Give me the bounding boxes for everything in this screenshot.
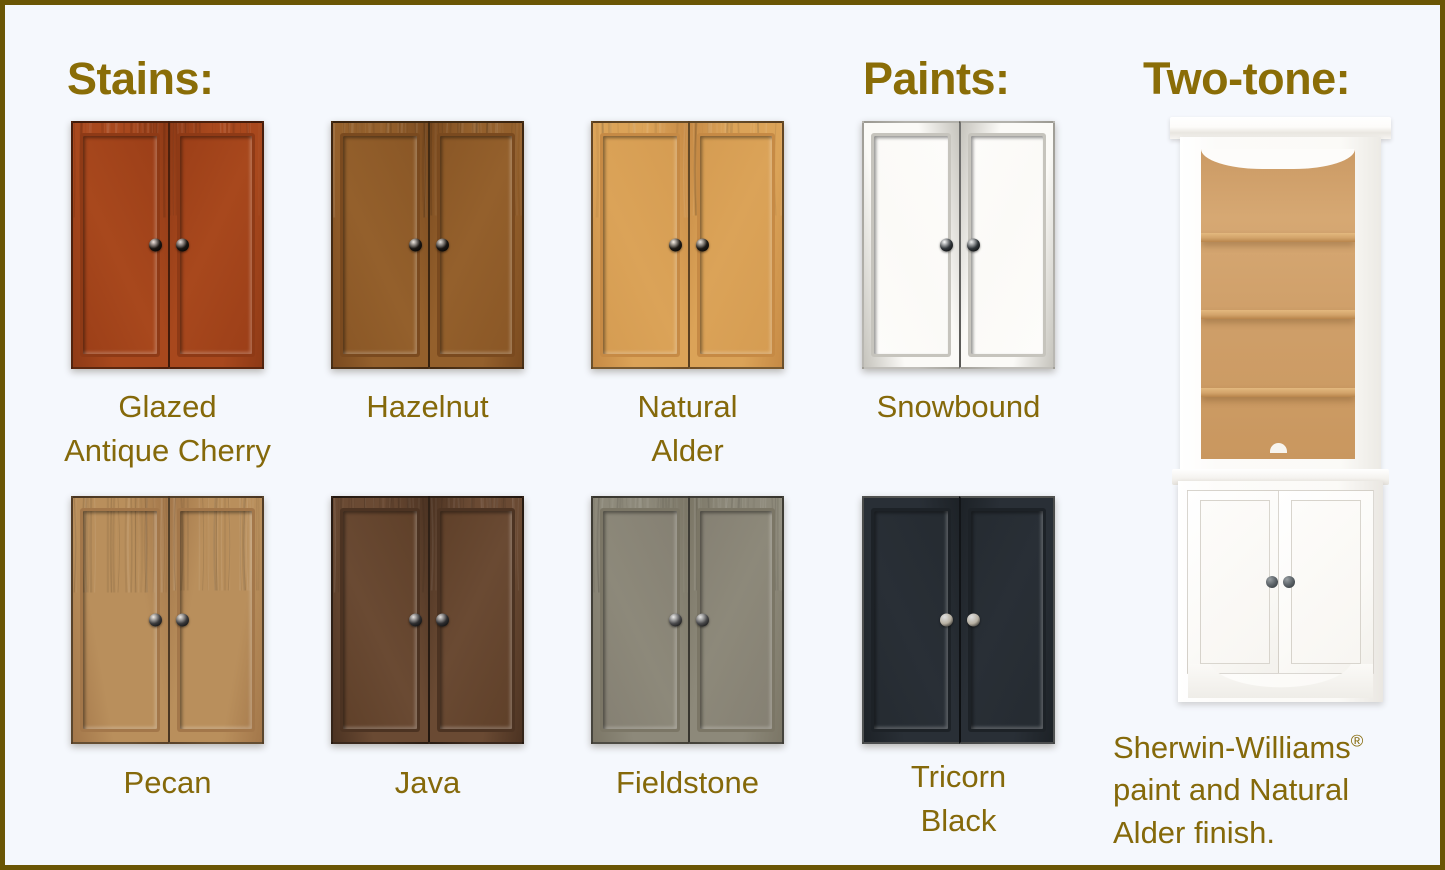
door-panel: [971, 136, 1043, 353]
door-panel: [1200, 500, 1270, 664]
heading-two-tone: Two-tone:: [1143, 53, 1350, 105]
cabinet-door[interactable]: [71, 496, 168, 744]
cabinet-door[interactable]: [591, 121, 688, 369]
door-knob-icon[interactable]: [409, 614, 422, 627]
door-knob-icon[interactable]: [669, 239, 682, 252]
bookcase-base-cabinet: [1178, 481, 1383, 702]
door-panel: [603, 136, 677, 353]
door-panel: [83, 511, 157, 728]
bookcase-interior: [1201, 149, 1355, 459]
door-panel: [180, 136, 252, 353]
heading-stains: Stains:: [67, 53, 214, 105]
base-cabinet-apron: [1188, 664, 1373, 698]
door-knob-icon[interactable]: [696, 614, 709, 627]
swatch-label-tricorn-black: Tricorn Black: [822, 755, 1095, 843]
swatch-label-hazelnut: Hazelnut: [291, 385, 564, 429]
cabinet-swatch-glazed-antique-cherry[interactable]: [71, 121, 264, 369]
cabinet-door[interactable]: [428, 496, 525, 744]
door-panel: [180, 511, 252, 728]
cabinet-door[interactable]: [591, 496, 688, 744]
door-knob-icon[interactable]: [409, 239, 422, 252]
swatch-label-snowbound: Snowbound: [822, 385, 1095, 429]
door-knob-icon[interactable]: [1283, 576, 1295, 588]
door-knob-icon[interactable]: [967, 614, 980, 627]
cabinet-swatch-tricorn-black[interactable]: [862, 496, 1055, 744]
two-tone-caption: Sherwin-Williams® paint and Natural Alde…: [1113, 727, 1428, 854]
door-knob-icon[interactable]: [669, 614, 682, 627]
door-knob-icon[interactable]: [1266, 576, 1278, 588]
bookcase-shelf: [1201, 388, 1355, 397]
base-cabinet-door-left[interactable]: [1187, 490, 1283, 674]
cabinet-swatch-pecan[interactable]: [71, 496, 264, 744]
bookcase-shelf: [1201, 310, 1355, 319]
door-panel: [874, 136, 948, 353]
cabinet-door[interactable]: [688, 121, 785, 369]
two-tone-bookcase: [1168, 117, 1393, 732]
cabinet-door[interactable]: [168, 121, 265, 369]
bookcase-arch-valance: [1201, 149, 1355, 169]
swatch-label-fieldstone: Fieldstone: [551, 761, 824, 805]
cabinet-door[interactable]: [428, 121, 525, 369]
cabinet-door[interactable]: [71, 121, 168, 369]
door-knob-icon[interactable]: [149, 614, 162, 627]
door-panel: [971, 511, 1043, 728]
door-panel: [343, 511, 417, 728]
cabinet-swatch-natural-alder[interactable]: [591, 121, 784, 369]
bookcase-shelf: [1201, 233, 1355, 242]
cabinet-swatch-hazelnut[interactable]: [331, 121, 524, 369]
cabinet-door[interactable]: [862, 121, 959, 369]
registered-trademark-icon: ®: [1351, 732, 1364, 751]
bookcase-puck-light: [1270, 443, 1287, 453]
cabinet-door[interactable]: [168, 496, 265, 744]
swatch-label-java: Java: [291, 761, 564, 805]
door-knob-icon[interactable]: [696, 239, 709, 252]
door-panel: [83, 136, 157, 353]
swatch-label-glazed-antique-cherry: Glazed Antique Cherry: [31, 385, 304, 473]
cabinet-swatch-java[interactable]: [331, 496, 524, 744]
cabinet-door[interactable]: [331, 121, 428, 369]
swatch-label-pecan: Pecan: [31, 761, 304, 805]
cabinet-door[interactable]: [959, 496, 1056, 744]
door-panel: [874, 511, 948, 728]
bookcase-hutch: [1180, 137, 1381, 475]
finish-options-board: Stains: Paints: Two-tone: Glazed Antique…: [5, 5, 1440, 865]
cabinet-door[interactable]: [959, 121, 1056, 369]
door-knob-icon[interactable]: [149, 239, 162, 252]
door-panel: [440, 511, 512, 728]
door-panel: [343, 136, 417, 353]
door-panel: [603, 511, 677, 728]
cabinet-door[interactable]: [331, 496, 428, 744]
heading-paints: Paints:: [863, 53, 1010, 105]
door-knob-icon[interactable]: [436, 614, 449, 627]
door-panel: [700, 511, 772, 728]
door-knob-icon[interactable]: [176, 614, 189, 627]
bookcase-crown-molding: [1170, 117, 1391, 139]
door-knob-icon[interactable]: [176, 239, 189, 252]
door-knob-icon[interactable]: [940, 614, 953, 627]
swatch-label-natural-alder: Natural Alder: [551, 385, 824, 473]
door-knob-icon[interactable]: [967, 239, 980, 252]
door-knob-icon[interactable]: [940, 239, 953, 252]
cabinet-swatch-fieldstone[interactable]: [591, 496, 784, 744]
door-panel: [440, 136, 512, 353]
cabinet-swatch-snowbound[interactable]: [862, 121, 1055, 369]
cabinet-door[interactable]: [688, 496, 785, 744]
door-knob-icon[interactable]: [436, 239, 449, 252]
door-panel: [700, 136, 772, 353]
cabinet-door[interactable]: [862, 496, 959, 744]
base-cabinet-door-right[interactable]: [1278, 490, 1374, 674]
door-panel: [1291, 500, 1361, 664]
